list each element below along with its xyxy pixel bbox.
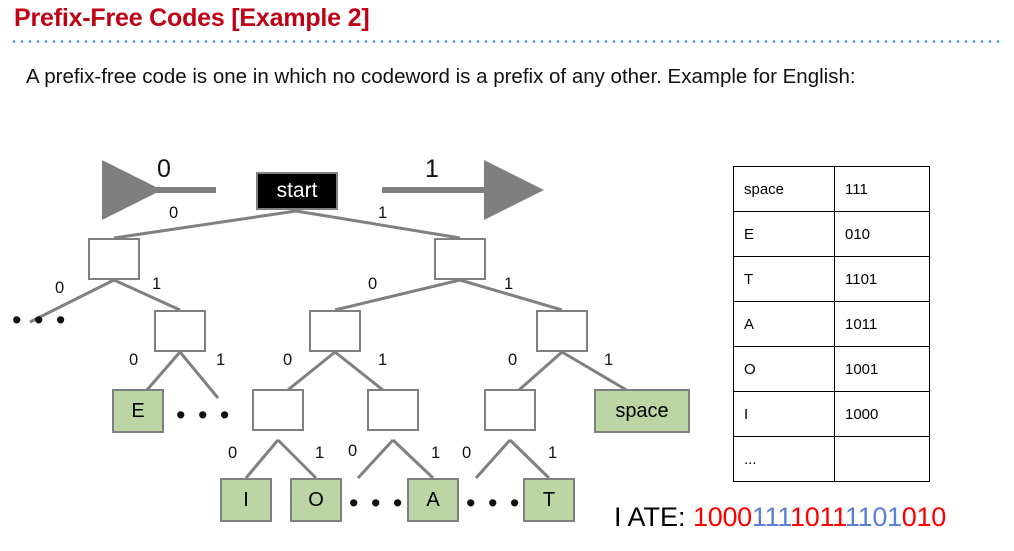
node-01[interactable] — [154, 310, 206, 352]
edge-label-n11-right: 1 — [604, 352, 613, 369]
table-cell-symbol: space — [734, 167, 835, 212]
leaf-i-label: I — [243, 489, 249, 512]
leaf-i[interactable]: I — [220, 478, 272, 522]
encoded-example: I ATE: 100011110111101010 — [614, 504, 946, 531]
leaf-a-label: A — [426, 489, 439, 512]
table-row: T1101 — [734, 257, 930, 302]
table-row: O1001 — [734, 347, 930, 392]
table-cell-code: 1000 — [835, 392, 930, 437]
ellipsis-before-a: • • • — [349, 490, 405, 517]
leaf-t[interactable]: T — [523, 478, 575, 522]
leaf-o[interactable]: O — [290, 478, 342, 522]
slide-canvas: Prefix-Free Codes [Example 2] A prefix-f… — [0, 0, 1014, 551]
intro-paragraph: A prefix-free code is one in which no co… — [26, 62, 1014, 91]
encoded-segment: 1011 — [790, 502, 845, 532]
table-cell-symbol: I — [734, 392, 835, 437]
table-cell-code: 1011 — [835, 302, 930, 347]
node-1[interactable] — [434, 238, 486, 280]
table-row: I1000 — [734, 392, 930, 437]
leaf-e[interactable]: E — [112, 389, 164, 433]
table-cell-code: 111 — [835, 167, 930, 212]
edge-label-n0-right: 1 — [152, 276, 161, 293]
node-start-label: start — [277, 179, 318, 203]
page-title: Prefix-Free Codes [Example 2] — [14, 4, 369, 33]
leaf-t-label: T — [543, 489, 555, 512]
node-start[interactable]: start — [256, 172, 338, 210]
edge-label-root-right: 1 — [378, 205, 387, 222]
leaf-space-label: space — [615, 400, 668, 423]
encoded-prefix-label: I ATE: — [614, 502, 693, 532]
leaf-o-label: O — [308, 489, 324, 512]
node-110[interactable] — [484, 389, 536, 431]
arrow-left-label: 0 — [157, 157, 171, 182]
edge-label-n1-right: 1 — [504, 276, 513, 293]
node-101[interactable] — [367, 389, 419, 431]
ellipsis-under-n01: • • • — [176, 402, 232, 429]
edge-label-root-left: 0 — [169, 205, 178, 222]
code-tree-diagram: 0 1 start E space I O A — [0, 140, 720, 540]
node-100[interactable] — [252, 389, 304, 431]
edge-label-n101-right: 1 — [431, 445, 440, 462]
table-cell-code: 010 — [835, 212, 930, 257]
leaf-space[interactable]: space — [594, 389, 690, 433]
node-0[interactable] — [88, 238, 140, 280]
edge-label-n01-left: 0 — [129, 352, 138, 369]
table-cell-code: 1001 — [835, 347, 930, 392]
node-11[interactable] — [536, 310, 588, 352]
leaf-e-label: E — [131, 400, 144, 423]
table-row: A1011 — [734, 302, 930, 347]
edge-label-n1-left: 0 — [368, 276, 377, 293]
encoded-segment: 111 — [752, 502, 790, 532]
encoded-bitstring: 100011110111101010 — [693, 502, 946, 532]
codeword-table-body: space111E010T1101A1011O1001I1000... — [734, 167, 930, 482]
node-10[interactable] — [309, 310, 361, 352]
edge-label-n101-left: 0 — [348, 443, 357, 460]
edge-label-n10-left: 0 — [283, 352, 292, 369]
table-row: space111 — [734, 167, 930, 212]
edge-label-n110-right: 1 — [548, 445, 557, 462]
encoded-segment: 1000 — [693, 502, 752, 532]
edge-label-n100-right: 1 — [315, 445, 324, 462]
table-cell-symbol: O — [734, 347, 835, 392]
ellipsis-before-t: • • • — [466, 490, 522, 517]
edge-label-n01-right: 1 — [216, 352, 225, 369]
edge-label-n110-left: 0 — [462, 445, 471, 462]
title-divider — [10, 40, 1004, 43]
edge-label-n11-left: 0 — [508, 352, 517, 369]
encoded-segment: 010 — [902, 502, 946, 532]
table-cell-symbol: E — [734, 212, 835, 257]
table-row: ... — [734, 437, 930, 482]
table-cell-code — [835, 437, 930, 482]
table-cell-symbol: A — [734, 302, 835, 347]
encoded-segment: 1101 — [845, 502, 902, 532]
table-cell-code: 1101 — [835, 257, 930, 302]
table-cell-symbol: T — [734, 257, 835, 302]
leaf-a[interactable]: A — [407, 478, 459, 522]
table-cell-symbol: ... — [734, 437, 835, 482]
edge-label-n100-left: 0 — [228, 445, 237, 462]
arrow-right-label: 1 — [425, 157, 439, 182]
table-row: E010 — [734, 212, 930, 257]
ellipsis-left: • • • — [12, 307, 68, 334]
edge-label-n10-right: 1 — [378, 352, 387, 369]
edge-label-n0-left: 0 — [55, 280, 64, 297]
codeword-table: space111E010T1101A1011O1001I1000... — [733, 166, 930, 482]
